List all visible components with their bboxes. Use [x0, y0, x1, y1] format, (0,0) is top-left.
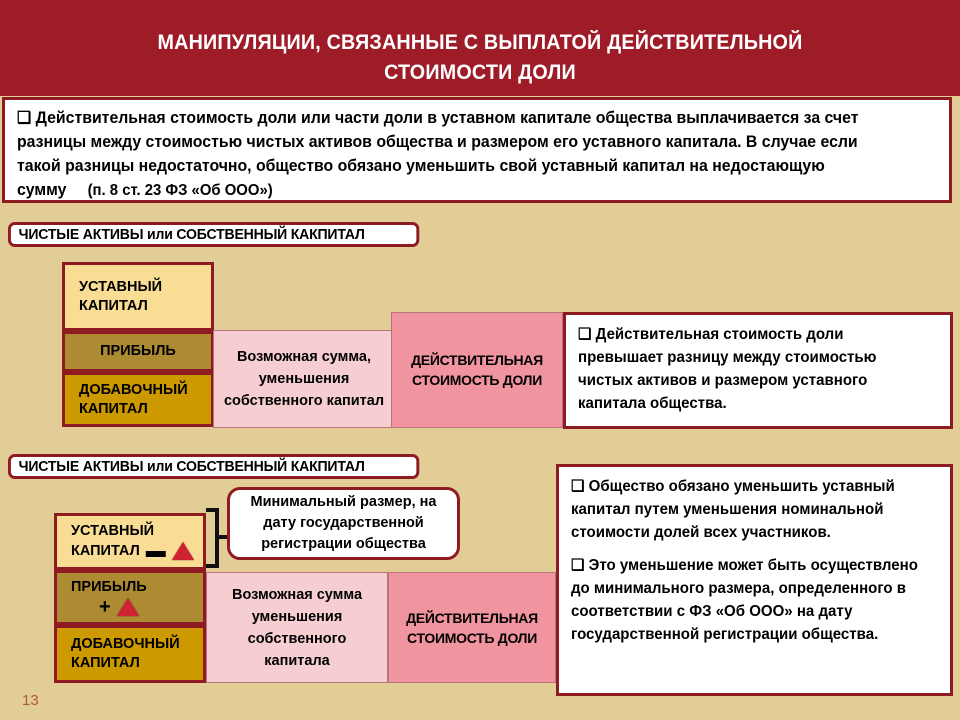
possible-reduction-amount-1: Возможная сумма, уменьшения собственного…	[213, 330, 395, 428]
top-statement-box: ❑ Действительная стоимость доли или част…	[2, 97, 952, 203]
stack-label-line1: УСТАВНЫЙ	[79, 278, 211, 297]
bullet-icon: ❑	[578, 326, 591, 343]
stack-label-line1: ДОБАВОЧНЫЙ	[79, 381, 211, 400]
red-triangle-icon	[172, 542, 194, 560]
note-2-text-2: Это уменьшение может быть осуществлено д…	[571, 557, 918, 643]
actual-share-value-2: ДЕЙСТВИТЕЛЬНАЯ СТОИМОСТЬ ДОЛИ	[388, 572, 556, 683]
stack-label-row-with-marker: КАПИТАЛ ▬	[71, 541, 203, 561]
actual-share-value-1: ДЕЙСТВИТЕЛЬНАЯ СТОИМОСТЬ ДОЛИ	[391, 312, 563, 428]
note-box-2: ❑ Общество обязано уменьшить уставный ка…	[556, 464, 953, 696]
note-box-1: ❑ Действительная стоимость доли превышае…	[563, 312, 953, 429]
note-2-text-1: Общество обязано уменьшить уставный капи…	[571, 478, 895, 541]
plus-sign-icon: +	[99, 597, 111, 617]
bullet-icon: ❑	[17, 109, 31, 127]
stack-block-profit-2: ПРИБЫЛЬ +	[54, 570, 206, 625]
page-title: МАНИПУЛЯЦИИ, СВЯЗАННЫЕ С ВЫПЛАТОЙ ДЕЙСТВ…	[85, 28, 875, 88]
red-triangle-icon	[117, 598, 139, 616]
stack-block-additional-capital-2: ДОБАВОЧНЫЙ КАПИТАЛ	[54, 625, 206, 683]
stack-label-line2: КАПИТАЛ	[71, 542, 140, 561]
note-2-paragraph-2: ❑ Это уменьшение может быть осуществлено…	[571, 554, 929, 646]
stack-block-charter-capital-1: УСТАВНЫЙ КАПИТАЛ	[62, 262, 214, 331]
possible-reduction-amount-2: Возможная сумма уменьшения собственного …	[206, 572, 388, 683]
note-1-text: Действительная стоимость доли превышает …	[578, 326, 877, 412]
section-label-net-assets-1: ЧИСТЫЕ АКТИВЫ или СОБСТВЕННЫЙ КАКПИТАЛ	[8, 222, 419, 247]
stack-label-row-with-marker: +	[71, 597, 203, 617]
stack-label-line1: ПРИБЫЛЬ	[100, 342, 176, 361]
law-reference: (п. 8 ст. 23 ФЗ «Об ООО»)	[66, 182, 272, 199]
stack-block-profit-1: ПРИБЫЛЬ	[62, 331, 214, 372]
stack-label-line1: ПРИБЫЛЬ	[71, 578, 203, 597]
page-number: 13	[22, 692, 39, 709]
title-line-2: СТОИМОСТИ ДОЛИ	[85, 58, 875, 88]
callout-minimum-size: Минимальный размер, на дату государствен…	[227, 487, 460, 560]
stack-block-charter-capital-2: УСТАВНЫЙ КАПИТАЛ ▬	[54, 513, 206, 570]
section-label-net-assets-2: ЧИСТЫЕ АКТИВЫ или СОБСТВЕННЫЙ КАКПИТАЛ	[8, 454, 419, 479]
note-2-paragraph-1: ❑ Общество обязано уменьшить уставный ка…	[571, 475, 929, 544]
stack-label-line2: КАПИТАЛ	[79, 297, 211, 316]
stack-label-line2: КАПИТАЛ	[71, 654, 203, 673]
top-statement-paragraph: ❑ Действительная стоимость доли или част…	[17, 106, 902, 203]
stack-label-line1: УСТАВНЫЙ	[71, 522, 203, 541]
title-line-1: МАНИПУЛЯЦИИ, СВЯЗАННЫЕ С ВЫПЛАТОЙ ДЕЙСТВ…	[85, 28, 875, 58]
note-1-paragraph: ❑ Действительная стоимость доли превышае…	[578, 323, 929, 415]
minus-sign-icon: ▬	[146, 541, 166, 561]
slide-canvas: МАНИПУЛЯЦИИ, СВЯЗАННЫЕ С ВЫПЛАТОЙ ДЕЙСТВ…	[0, 0, 960, 720]
bullet-icon: ❑	[571, 478, 584, 495]
stack-label-line2: КАПИТАЛ	[79, 400, 211, 419]
stack-block-additional-capital-1: ДОБАВОЧНЫЙ КАПИТАЛ	[62, 372, 214, 427]
bullet-icon: ❑	[571, 557, 584, 574]
stack-label-line1: ДОБАВОЧНЫЙ	[71, 635, 203, 654]
